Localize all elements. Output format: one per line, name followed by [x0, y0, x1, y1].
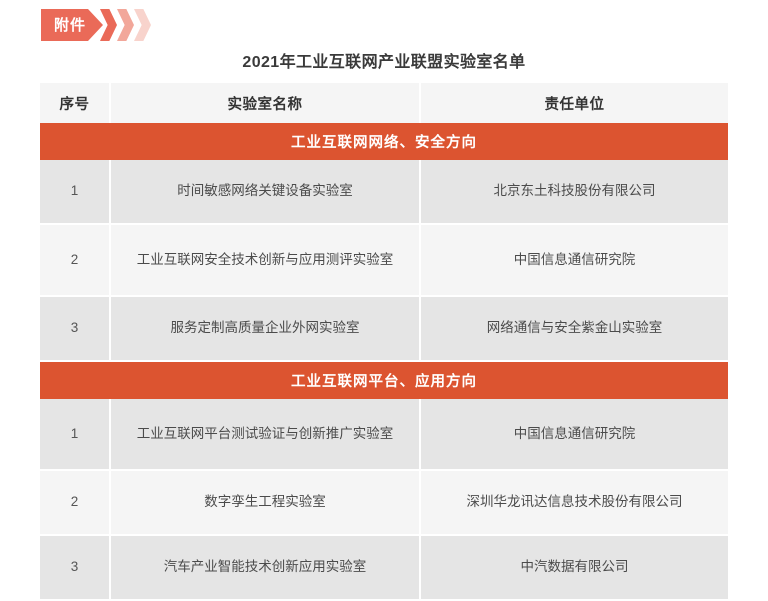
row-organization: 中国信息通信研究院: [420, 399, 728, 470]
row-index: 1: [40, 399, 110, 470]
row-lab-name: 工业互联网平台测试验证与创新推广实验室: [110, 399, 420, 470]
section-heading-label: 工业互联网网络、安全方向: [40, 123, 728, 160]
row-index: 1: [40, 160, 110, 224]
row-index: 3: [40, 296, 110, 361]
row-lab-name: 服务定制高质量企业外网实验室: [110, 296, 420, 361]
row-organization: 中国信息通信研究院: [420, 224, 728, 296]
row-organization: 深圳华龙讯达信息技术股份有限公司: [420, 470, 728, 535]
section-heading-row: 工业互联网平台、应用方向: [40, 361, 728, 399]
section-heading-row: 工业互联网网络、安全方向: [40, 123, 728, 160]
table-row: 1 时间敏感网络关键设备实验室 北京东土科技股份有限公司: [40, 160, 728, 224]
row-organization: 中汽数据有限公司: [420, 535, 728, 600]
table-header-row: 序号 实验室名称 责任单位: [40, 83, 728, 123]
column-header-organization: 责任单位: [420, 83, 728, 123]
row-organization: 网络通信与安全紫金山实验室: [420, 296, 728, 361]
row-index: 2: [40, 470, 110, 535]
column-header-lab-name: 实验室名称: [110, 83, 420, 123]
attachment-badge-arrow: 附件: [41, 9, 103, 41]
table-row: 2 工业互联网安全技术创新与应用测评实验室 中国信息通信研究院: [40, 224, 728, 296]
attachment-badge-label: 附件: [54, 18, 86, 33]
lab-listing-table-container: 序号 实验室名称 责任单位 工业互联网网络、安全方向 1 时间敏感网络关键设备实…: [40, 83, 728, 601]
row-lab-name: 工业互联网安全技术创新与应用测评实验室: [110, 224, 420, 296]
page-title: 2021年工业互联网产业联盟实验室名单: [0, 48, 768, 72]
lab-listing-table: 序号 实验室名称 责任单位 工业互联网网络、安全方向 1 时间敏感网络关键设备实…: [40, 83, 728, 601]
chevron-right-icon: [117, 9, 134, 41]
attachment-badge: 附件: [41, 9, 151, 41]
section-heading-label: 工业互联网平台、应用方向: [40, 361, 728, 399]
row-index: 3: [40, 535, 110, 600]
row-lab-name: 时间敏感网络关键设备实验室: [110, 160, 420, 224]
table-row: 2 数字孪生工程实验室 深圳华龙讯达信息技术股份有限公司: [40, 470, 728, 535]
table-row: 3 服务定制高质量企业外网实验室 网络通信与安全紫金山实验室: [40, 296, 728, 361]
row-lab-name: 汽车产业智能技术创新应用实验室: [110, 535, 420, 600]
column-header-index: 序号: [40, 83, 110, 123]
table-row: 1 工业互联网平台测试验证与创新推广实验室 中国信息通信研究院: [40, 399, 728, 470]
row-index: 2: [40, 224, 110, 296]
table-row: 3 汽车产业智能技术创新应用实验室 中汽数据有限公司: [40, 535, 728, 600]
row-lab-name: 数字孪生工程实验室: [110, 470, 420, 535]
chevron-right-icon: [134, 9, 151, 41]
row-organization: 北京东土科技股份有限公司: [420, 160, 728, 224]
